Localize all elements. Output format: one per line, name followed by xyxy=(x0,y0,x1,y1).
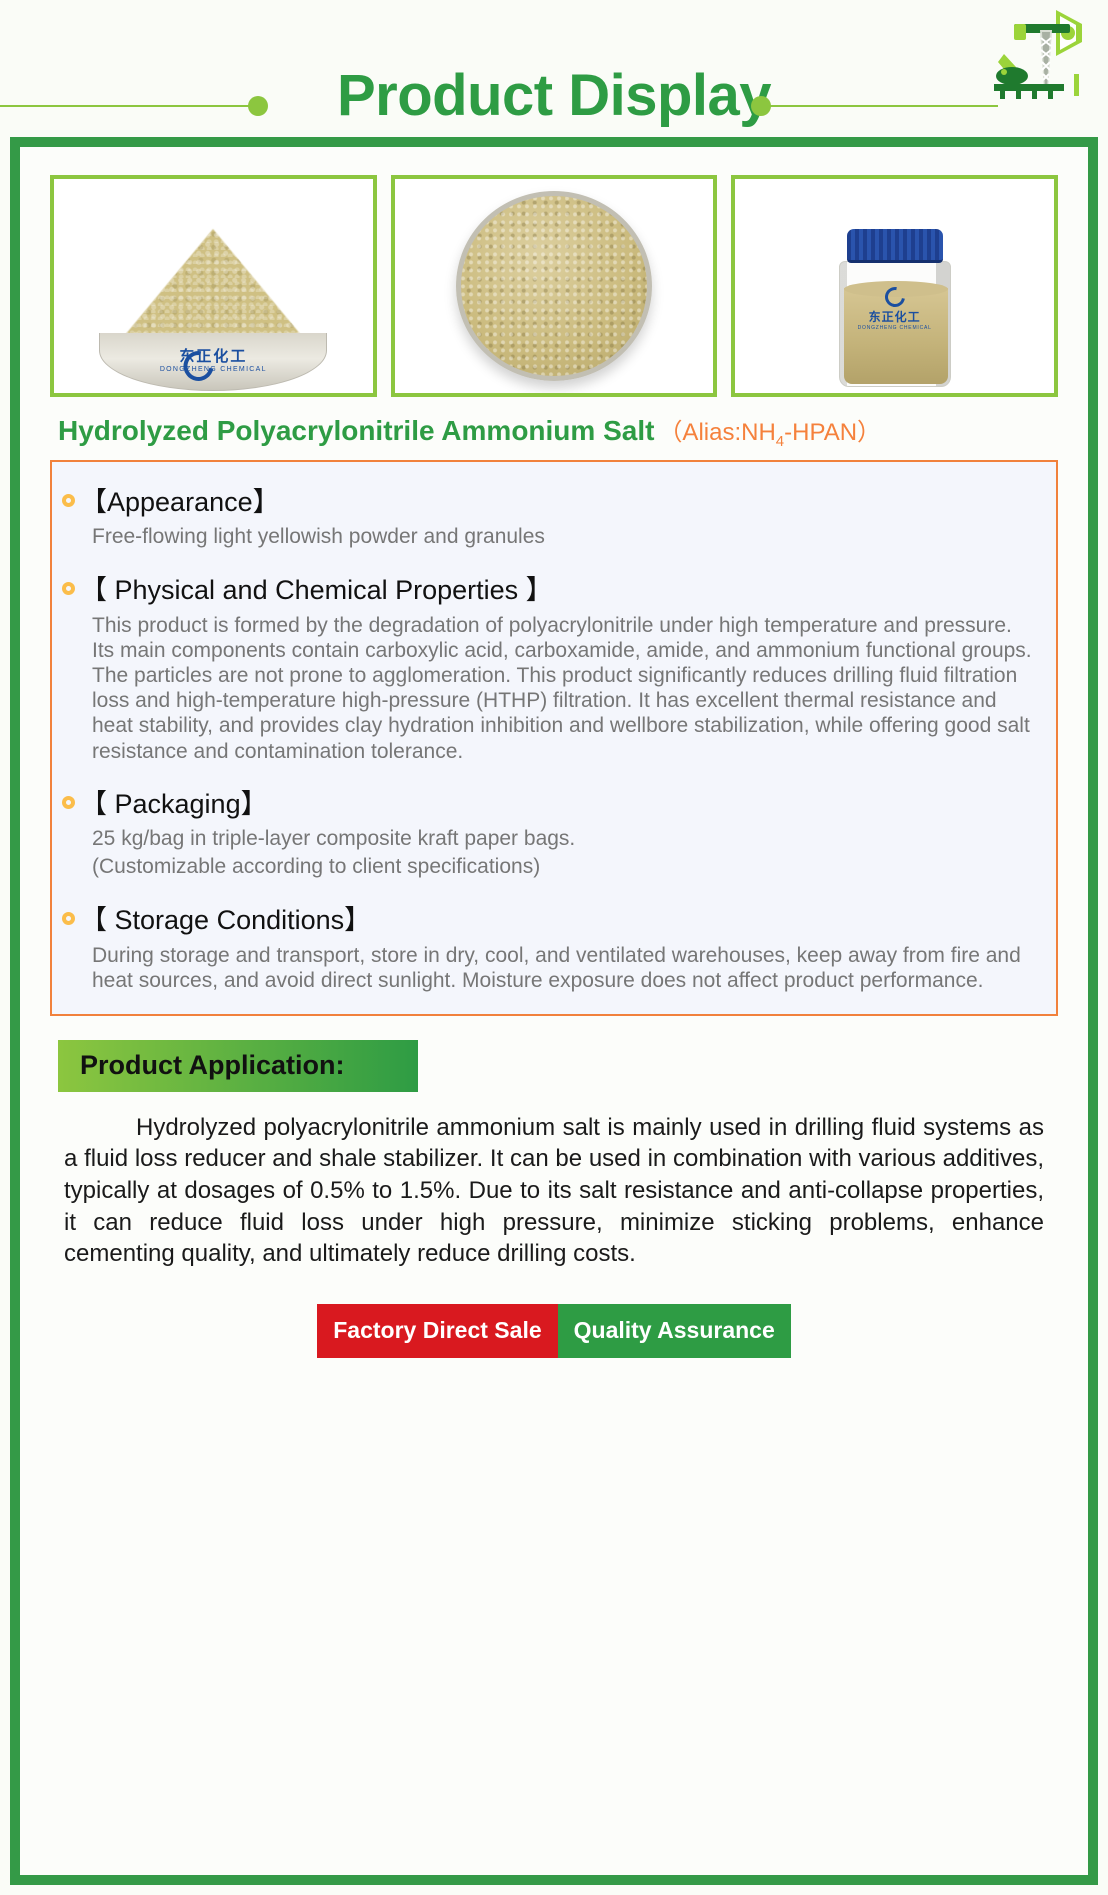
alias-subscript: 4 xyxy=(776,433,784,450)
product-name-main: Hydrolyzed Polyacrylonitrile Ammonium Sa… xyxy=(58,415,654,446)
spec-heading-properties: 【 Physical and Chemical Properties 】 xyxy=(62,568,1038,607)
alias-prefix: （Alias:NH xyxy=(658,419,775,446)
product-name: Hydrolyzed Polyacrylonitrile Ammonium Sa… xyxy=(58,412,1058,450)
bullet-ring-icon xyxy=(62,796,75,809)
spec-body-packaging-note: (Customizable according to client specif… xyxy=(92,855,1038,880)
spec-body-storage: During storage and transport, store in d… xyxy=(92,943,1038,993)
brand-name-en: DONGZHENG CHEMICAL xyxy=(839,325,951,331)
header-rule-right xyxy=(768,105,998,107)
product-alias: （Alias:NH4-HPAN） xyxy=(658,419,881,446)
product-image-1[interactable]: 东正化工 DONGZHENG CHEMICAL xyxy=(50,175,377,397)
sample-jar: 东正化工 DONGZHENG CHEMICAL xyxy=(839,229,951,387)
brand-logo: 东正化工 DONGZHENG CHEMICAL xyxy=(160,345,267,373)
badge-factory-direct-sale[interactable]: Factory Direct Sale xyxy=(317,1304,557,1358)
round-powder-dish xyxy=(456,191,652,381)
product-image-2[interactable] xyxy=(391,175,718,397)
spec-heading-label: 【 Packaging】 xyxy=(80,782,268,821)
specification-box: 【Appearance】 Free-flowing light yellowis… xyxy=(50,460,1058,1016)
powder-texture xyxy=(461,196,647,376)
bullet-ring-icon xyxy=(62,912,75,925)
page-title: Product Display xyxy=(0,62,1108,129)
badge-quality-assurance[interactable]: Quality Assurance xyxy=(558,1304,791,1358)
bullet-ring-icon xyxy=(62,494,75,507)
product-card: 东正化工 DONGZHENG CHEMICAL 东正化工 xyxy=(10,137,1098,1885)
spec-heading-appearance: 【Appearance】 xyxy=(62,480,1038,519)
alias-suffix: -HPAN） xyxy=(784,419,881,446)
bullet-ring-icon xyxy=(62,582,75,595)
spec-body-properties: This product is formed by the degradatio… xyxy=(92,613,1038,764)
application-banner: Product Application: xyxy=(58,1040,418,1092)
spec-heading-storage: 【 Storage Conditions】 xyxy=(62,898,1038,937)
spec-heading-label: 【 Storage Conditions】 xyxy=(80,898,371,937)
brand-swoosh-icon xyxy=(881,283,909,311)
glass-dish: 东正化工 DONGZHENG CHEMICAL xyxy=(99,333,327,391)
spec-body-packaging: 25 kg/bag in triple-layer composite kraf… xyxy=(92,827,1038,852)
application-text: Hydrolyzed polyacrylonitrile ammonium sa… xyxy=(64,1112,1044,1270)
product-image-3[interactable]: 东正化工 DONGZHENG CHEMICAL xyxy=(731,175,1058,397)
page-header: Product Display xyxy=(0,0,1108,140)
brand-logo: 东正化工 DONGZHENG CHEMICAL xyxy=(839,287,951,331)
product-gallery: 东正化工 DONGZHENG CHEMICAL 东正化工 xyxy=(50,175,1058,397)
spec-heading-label: 【 Physical and Chemical Properties 】 xyxy=(80,568,553,607)
jar-cap xyxy=(847,229,943,263)
badge-row: Factory Direct Sale Quality Assurance xyxy=(50,1304,1058,1358)
brand-name-cn: 东正化工 xyxy=(839,308,951,325)
oil-pumpjack-icon xyxy=(990,2,1100,102)
spec-body-appearance: Free-flowing light yellowish powder and … xyxy=(92,525,1038,550)
spec-heading-packaging: 【 Packaging】 xyxy=(62,782,1038,821)
spec-heading-label: 【Appearance】 xyxy=(80,480,280,519)
